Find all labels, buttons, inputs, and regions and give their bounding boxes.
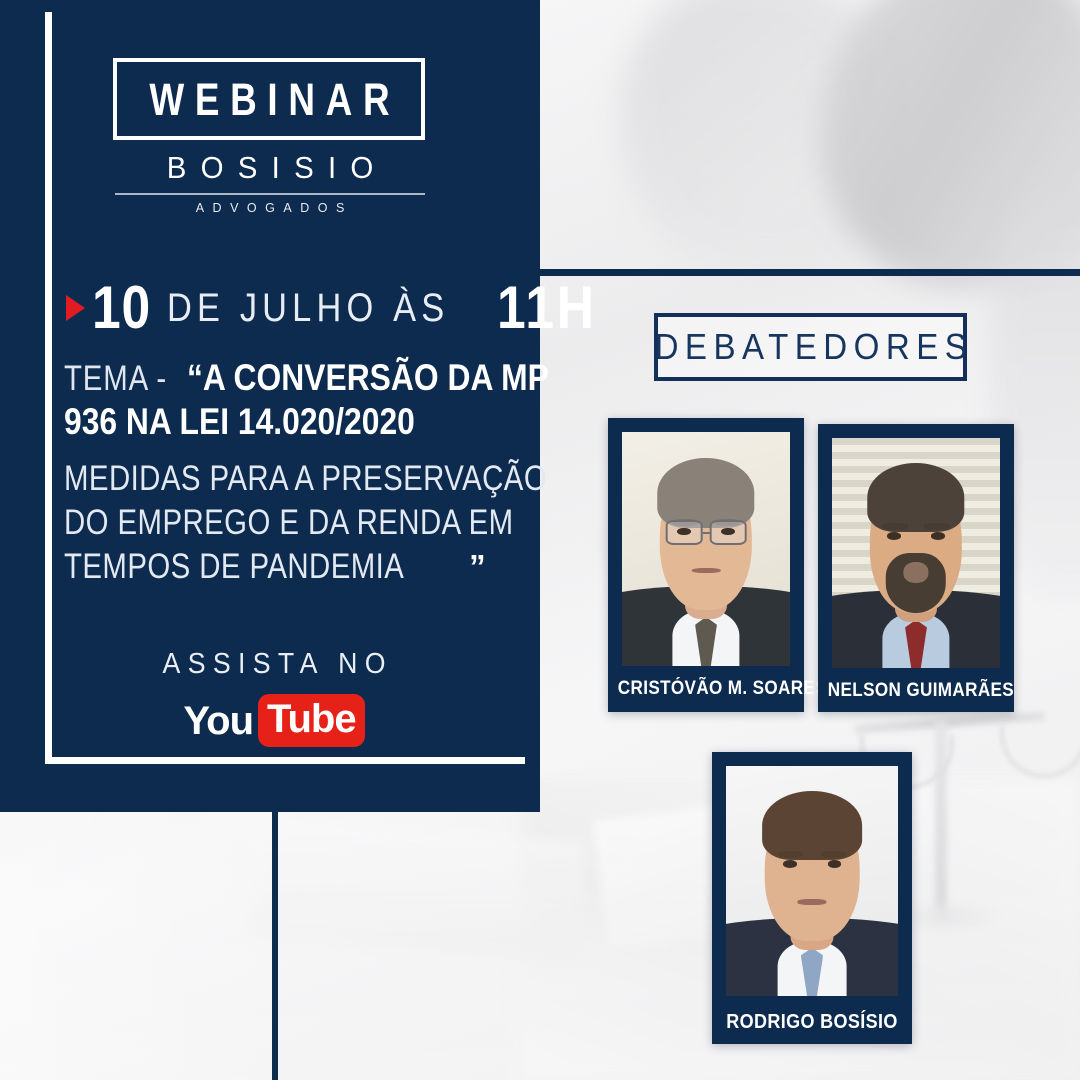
speaker-photo bbox=[832, 438, 1000, 668]
speaker-card[interactable]: NELSON GUIMARÃES bbox=[818, 424, 1014, 712]
event-hour: 11H bbox=[497, 278, 597, 338]
portrait-eye-left bbox=[887, 532, 900, 539]
speaker-photo bbox=[726, 766, 898, 996]
play-triangle-icon bbox=[66, 295, 85, 321]
portrait-eye-right bbox=[931, 532, 944, 539]
theme-line-1: “A CONVERSÃO DA MP bbox=[187, 356, 549, 400]
event-day: 10 bbox=[92, 278, 151, 338]
event-theme: TEMA - “A CONVERSÃO DA MP 936 NA LEI 14.… bbox=[64, 356, 532, 590]
watch-label: ASSISTA NO bbox=[81, 648, 467, 681]
speakers-heading-box: DEBATEDORES bbox=[654, 313, 967, 381]
portrait-illustration bbox=[622, 432, 790, 666]
theme-row-1: TEMA - “A CONVERSÃO DA MP bbox=[64, 356, 532, 400]
speaker-photo bbox=[622, 432, 790, 666]
portrait-hair bbox=[762, 791, 862, 860]
portrait-eye-right bbox=[828, 860, 842, 867]
theme-row-5: TEMPOS DE PANDEMIA” bbox=[64, 546, 532, 590]
eyeglasses-bridge bbox=[702, 532, 709, 534]
youtube-logo-you: You bbox=[183, 701, 253, 741]
theme-label: TEMA - bbox=[64, 358, 167, 399]
portrait-mouth bbox=[692, 568, 721, 574]
brand-tagline: ADVOGADOS bbox=[95, 201, 445, 215]
divider-vertical-bottom bbox=[272, 810, 278, 1080]
brand-name: BOSISIO bbox=[104, 150, 437, 186]
portrait-illustration bbox=[832, 438, 1000, 668]
portrait-illustration bbox=[726, 766, 898, 996]
speakers-heading-label: DEBATEDORES bbox=[648, 326, 973, 368]
panel-content: WEBINAR BOSISIO ADVOGADOS 10 DE JULHO ÀS… bbox=[0, 0, 540, 812]
speaker-card[interactable]: CRISTÓVÃO M. SOARES bbox=[608, 418, 804, 712]
event-dateline: 10 DE JULHO ÀS 11H bbox=[66, 278, 613, 338]
webinar-badge: WEBINAR bbox=[113, 58, 425, 140]
portrait-hair bbox=[657, 458, 754, 528]
divider-horizontal-top bbox=[540, 269, 1080, 276]
theme-row-2: 936 NA LEI 14.020/2020 bbox=[64, 400, 532, 458]
speaker-name: RODRIGO BOSÍSIO bbox=[722, 1011, 902, 1034]
speaker-name: NELSON GUIMARÃES bbox=[828, 680, 1004, 702]
theme-line-3: MEDIDAS PARA A PRESERVAÇÃO bbox=[64, 458, 547, 499]
theme-line-4: DO EMPREGO E DA RENDA EM bbox=[64, 502, 514, 543]
brand-lockup: BOSISIO ADVOGADOS bbox=[95, 150, 445, 215]
portrait-hair bbox=[867, 463, 964, 532]
speaker-card[interactable]: RODRIGO BOSÍSIO bbox=[712, 752, 912, 1044]
event-month-prefix: DE JULHO ÀS bbox=[167, 288, 449, 328]
portrait-brow-left bbox=[778, 851, 804, 858]
portrait-brow-left bbox=[882, 523, 907, 530]
portrait-mouth bbox=[797, 899, 826, 905]
theme-line-2: 936 NA LEI 14.020/2020 bbox=[64, 400, 415, 444]
portrait-brow-right bbox=[924, 523, 949, 530]
webinar-badge-label: WEBINAR bbox=[138, 77, 400, 122]
speaker-name: CRISTÓVÃO M. SOARES bbox=[618, 678, 794, 700]
webinar-poster: WEBINAR BOSISIO ADVOGADOS 10 DE JULHO ÀS… bbox=[0, 0, 1080, 1080]
theme-line-5: TEMPOS DE PANDEMIA bbox=[64, 546, 404, 587]
youtube-logo-tube: Tube bbox=[258, 694, 365, 747]
portrait-brow-right bbox=[821, 851, 847, 858]
portrait-eye-left bbox=[783, 860, 797, 867]
theme-closing-quote: ” bbox=[469, 548, 486, 585]
theme-row-4: DO EMPREGO E DA RENDA EM bbox=[64, 502, 532, 546]
theme-row-3: MEDIDAS PARA A PRESERVAÇÃO bbox=[64, 458, 532, 502]
portrait-mouth bbox=[903, 562, 928, 583]
youtube-logo[interactable]: You Tube bbox=[64, 694, 484, 747]
brand-divider bbox=[115, 193, 425, 195]
